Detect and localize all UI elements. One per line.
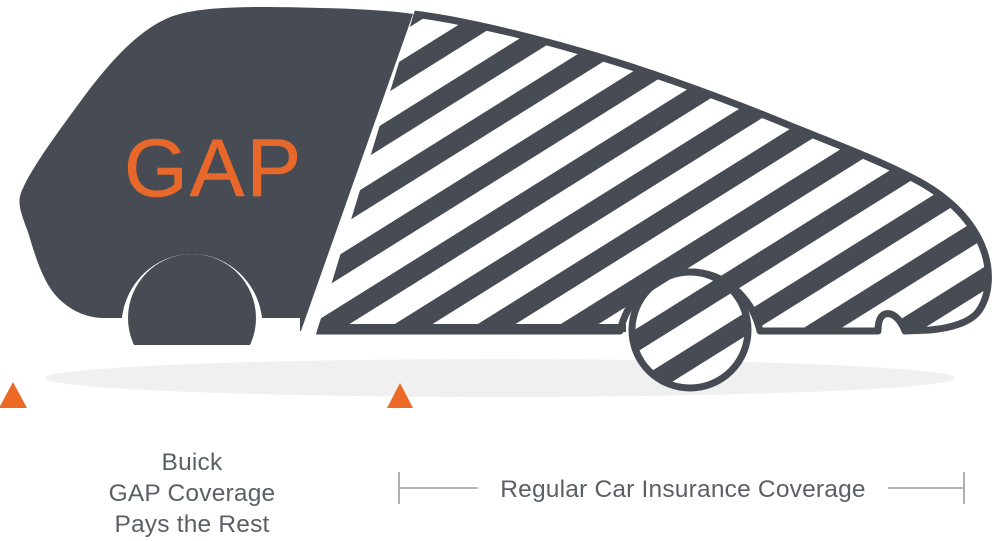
regular-insurance-label: Regular Car Insurance Coverage — [500, 476, 866, 503]
marker-left-triangle — [0, 382, 27, 408]
illustration-canvas: GAP Regular Car Insurance Coverage Buick… — [0, 0, 1000, 541]
gap-coverage-label-line-3: Pays the Rest — [114, 511, 269, 538]
gap-coverage-label-line-2: GAP Coverage — [109, 480, 276, 507]
ground-shadow — [45, 359, 955, 397]
gap-insurance-diagram: GAP Regular Car Insurance Coverage Buick… — [0, 0, 1000, 541]
gap-coverage-label-line-1: Buick — [162, 449, 223, 476]
rear-wheel — [632, 272, 748, 388]
gap-wordmark: GAP — [124, 123, 303, 214]
